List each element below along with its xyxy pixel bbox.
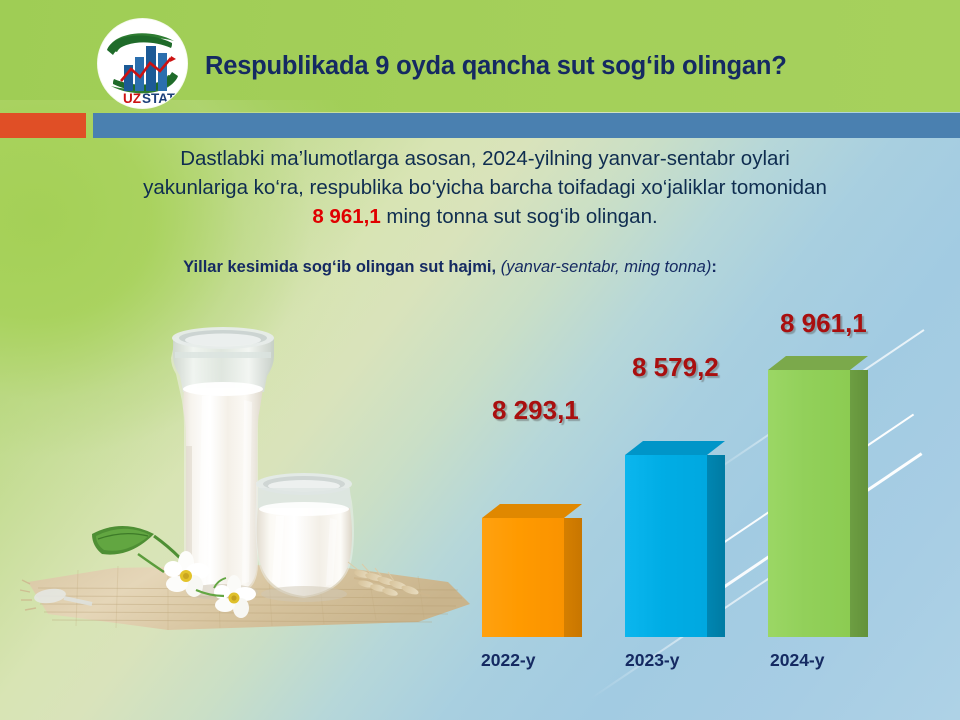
bar-2022 xyxy=(482,504,582,637)
bar-2023 xyxy=(625,441,725,637)
logo-text-uz: UZ xyxy=(123,91,141,106)
bar-2024-value-label: 8 961,1 xyxy=(780,308,867,339)
summary-line-2: yakunlariga ko‘ra, respublika bo‘yicha b… xyxy=(70,173,900,202)
summary-highlight-value: 8 961,1 xyxy=(312,205,380,228)
bar-2022-front xyxy=(482,518,564,637)
uzstat-logo: UZ STAT xyxy=(98,19,187,108)
bar-2023-value-label: 8 579,2 xyxy=(632,352,719,383)
bar-2023-side xyxy=(707,455,725,637)
bar-2024-top xyxy=(768,356,868,370)
summary-line-3: 8 961,1 ming tonna sut sog‘ib olingan. xyxy=(70,202,900,231)
bar-2023-top xyxy=(625,441,725,455)
infographic-slide: UZ STAT Respublikada 9 oyda qancha sut s… xyxy=(0,0,960,720)
milk-glass xyxy=(255,473,354,602)
milk-bottle-and-glass-photo xyxy=(18,296,518,636)
blue-accent-bar xyxy=(93,113,960,138)
bar-2022-value-label: 8 293,1 xyxy=(492,395,579,426)
bar-2022-axis-label: 2022-y xyxy=(481,650,536,671)
summary-line-1: Dastlabki ma’lumotlarga asosan, 2024-yil… xyxy=(70,144,900,173)
page-title: Respublikada 9 oyda qancha sut sog‘ib ol… xyxy=(205,52,905,81)
bar-2024-side xyxy=(850,370,868,637)
chart-caption-colon: : xyxy=(711,258,717,276)
bar-chart: 8 293,1 2022-y 8 579,2 2023-y 8 961,1 20… xyxy=(460,300,920,680)
chart-caption-italic: (yanvar-sentabr, ming tonna) xyxy=(496,258,711,276)
summary-paragraph: Dastlabki ma’lumotlarga asosan, 2024-yil… xyxy=(70,144,900,231)
bar-2024-front xyxy=(768,370,850,637)
bar-2024-axis-label: 2024-y xyxy=(770,650,825,671)
bar-2022-top xyxy=(482,504,582,518)
chart-caption-bold: Yillar kesimida sog‘ib olingan sut hajmi… xyxy=(183,258,496,276)
orange-accent-bar xyxy=(0,113,86,138)
chart-caption: Yillar kesimida sog‘ib olingan sut hajmi… xyxy=(0,258,900,277)
bar-2022-side xyxy=(564,518,582,637)
bar-2024 xyxy=(768,356,868,637)
bar-2023-front xyxy=(625,455,707,637)
bar-2023-axis-label: 2023-y xyxy=(625,650,680,671)
summary-line-3-rest: ming tonna sut sog‘ib olingan. xyxy=(381,205,658,228)
